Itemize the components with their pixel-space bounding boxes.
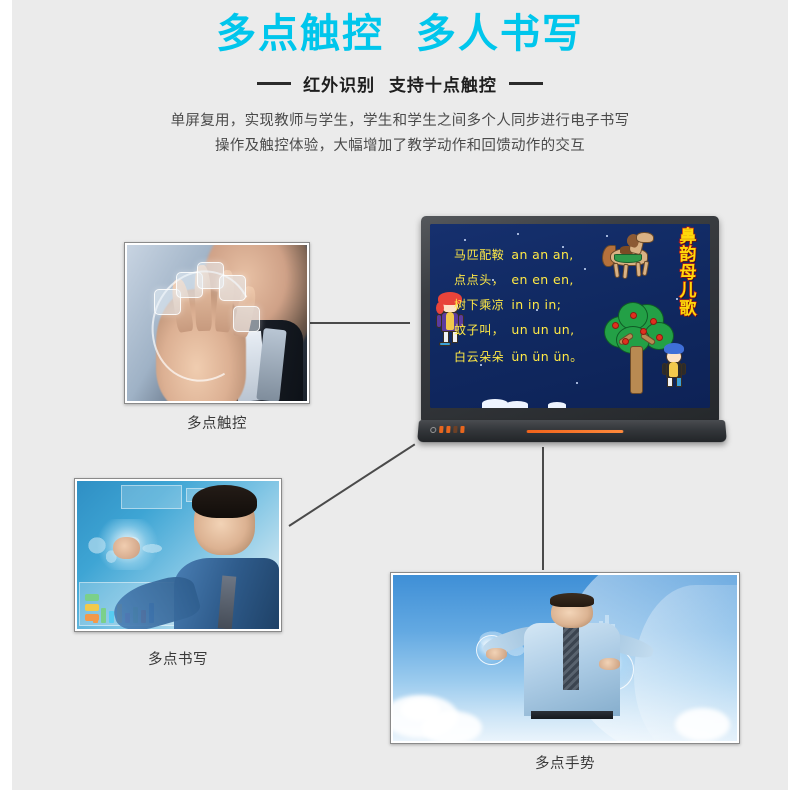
page-root: 多点触控 多人书写 红外识别 支持十点触控 单屏复用，实现教师与学生，学生和学生…	[12, 0, 788, 790]
display-control-panel[interactable]	[430, 426, 465, 433]
lyric-row: 白云朵朵 ün ün ün。	[454, 346, 604, 371]
display-bottom-bezel	[417, 420, 727, 442]
screen-title-char: 鼻	[680, 228, 697, 246]
lyric-row: 树下乘凉 in in in;	[454, 296, 604, 321]
control-key-icon[interactable]	[453, 426, 457, 433]
interactive-whiteboard-display[interactable]: 马匹配鞍 an an an, 点点头， en en en, 树下乘凉 in in…	[417, 212, 727, 444]
lyric-pinyin: in in in;	[511, 297, 561, 312]
lyric-chinese: 马匹配鞍	[454, 246, 504, 263]
lyric-chinese: 树下乘凉	[454, 296, 504, 313]
subtitle-row: 红外识别 支持十点触控	[12, 71, 788, 96]
man-holographic-interface-photo[interactable]	[74, 478, 282, 632]
display-screen[interactable]: 马匹配鞍 an an an, 点点头， en en en, 树下乘凉 in in…	[430, 224, 710, 408]
description: 单屏复用，实现教师与学生，学生和学生之间多个人同步进行电子书写 操作及触控体验，…	[12, 109, 788, 160]
businessman-gesture-orbs-photo[interactable]	[390, 572, 740, 744]
control-key-icon[interactable]	[446, 426, 451, 433]
horse-illustration	[600, 232, 662, 280]
control-key-icon[interactable]	[460, 426, 464, 433]
control-key-icon[interactable]	[439, 426, 444, 433]
bezel-accent-stripe	[527, 430, 624, 433]
screen-title-char: 歌	[680, 300, 697, 318]
screen-vertical-title: 鼻 韵 母 儿 歌	[671, 228, 705, 318]
screen-title-char: 儿	[680, 282, 697, 300]
description-line-2: 操作及触控体验，大幅增加了教学动作和回馈动作的交互	[12, 134, 788, 159]
lyric-chinese: 蚊子叫，	[454, 321, 504, 338]
boy-character-illustration	[662, 342, 688, 390]
lyric-chinese: 点点头，	[454, 271, 504, 288]
subtitle: 红外识别 支持十点触控	[303, 71, 497, 96]
connector-photo1-to-display	[310, 322, 410, 324]
screen-title-char: 母	[680, 264, 697, 282]
description-line-1: 单屏复用，实现教师与学生，学生和学生之间多个人同步进行电子书写	[12, 109, 788, 134]
lyric-row: 蚊子叫， un un un,	[454, 321, 604, 346]
hand-touching-panels-photo[interactable]	[124, 242, 310, 404]
lyric-row: 点点头， en en en,	[454, 271, 604, 296]
lyrics-list: 马匹配鞍 an an an, 点点头， en en en, 树下乘凉 in in…	[454, 246, 604, 371]
lyric-pinyin: ün ün ün。	[511, 346, 583, 365]
page-title: 多点触控 多人书写	[12, 0, 788, 54]
caption-multi-touch: 多点触控	[124, 412, 310, 433]
dash-right-icon	[509, 82, 543, 85]
lyric-pinyin: un un un,	[511, 322, 574, 337]
lyric-pinyin: an an an,	[511, 247, 573, 262]
lyric-row: 马匹配鞍 an an an,	[454, 246, 604, 271]
lyric-pinyin: en en en,	[511, 272, 573, 287]
connector-photo2-to-display	[288, 443, 415, 526]
connector-display-to-photo3	[542, 447, 544, 570]
header: 多点触控 多人书写 红外识别 支持十点触控 单屏复用，实现教师与学生，学生和学生…	[12, 0, 788, 160]
caption-multi-gesture: 多点手势	[390, 752, 740, 773]
dash-left-icon	[257, 82, 291, 85]
lyric-chinese: 白云朵朵	[454, 348, 504, 365]
power-button-icon[interactable]	[430, 426, 436, 432]
screen-title-char: 韵	[680, 246, 697, 264]
display-bezel: 马匹配鞍 an an an, 点点头， en en en, 树下乘凉 in in…	[421, 216, 719, 424]
caption-multi-writing: 多点书写	[74, 648, 282, 669]
